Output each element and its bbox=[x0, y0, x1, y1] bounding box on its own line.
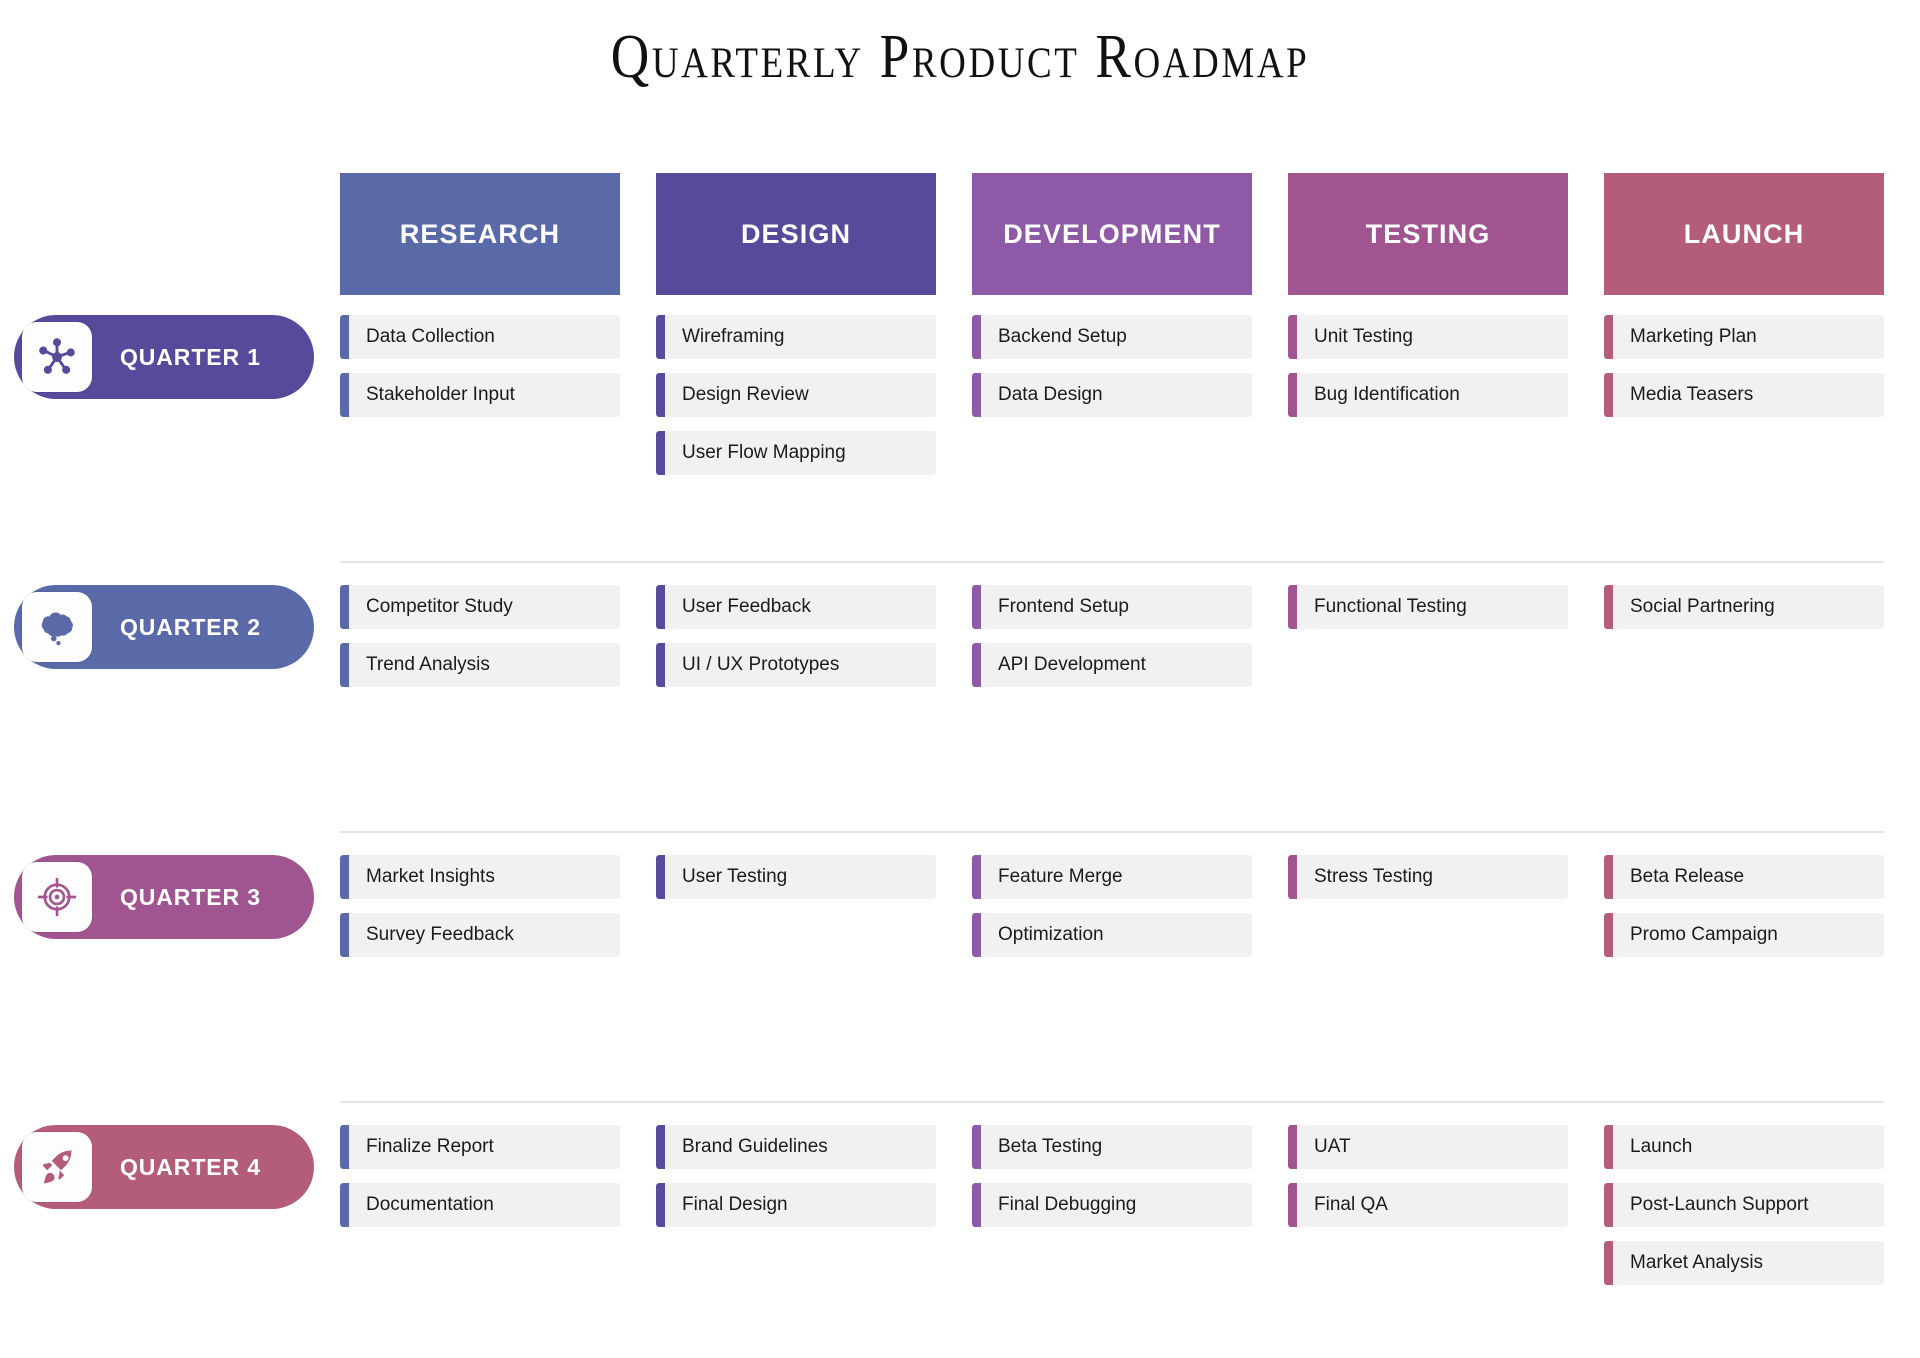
task-item[interactable]: UAT bbox=[1288, 1125, 1568, 1169]
task-label: Promo Campaign bbox=[1613, 913, 1778, 957]
task-column-testing: Stress Testing bbox=[1288, 855, 1604, 971]
task-column-research: Competitor StudyTrend Analysis bbox=[340, 585, 656, 701]
task-label: Unit Testing bbox=[1297, 315, 1413, 359]
task-accent-bar bbox=[340, 643, 349, 687]
task-accent-bar bbox=[656, 585, 665, 629]
task-column-testing: Unit TestingBug Identification bbox=[1288, 315, 1604, 489]
task-accent-bar bbox=[340, 855, 349, 899]
task-column-launch: Beta ReleasePromo Campaign bbox=[1604, 855, 1920, 971]
task-item[interactable]: Wireframing bbox=[656, 315, 936, 359]
task-item[interactable]: Post-Launch Support bbox=[1604, 1183, 1884, 1227]
row-spacer bbox=[0, 1103, 1920, 1125]
task-item[interactable]: Finalize Report bbox=[340, 1125, 620, 1169]
task-label: Survey Feedback bbox=[349, 913, 514, 957]
column-header-cell: LAUNCH bbox=[1604, 173, 1920, 295]
quarter-badge-cell: QUARTER 4 bbox=[0, 1125, 340, 1299]
task-item[interactable]: Market Insights bbox=[340, 855, 620, 899]
target-crosshair-icon bbox=[22, 862, 92, 932]
quarter-block: QUARTER 4Finalize ReportDocumentationBra… bbox=[0, 1125, 1920, 1353]
quarter-block: QUARTER 3Market InsightsSurvey FeedbackU… bbox=[0, 855, 1920, 1083]
quarter-row: QUARTER 2Competitor StudyTrend AnalysisU… bbox=[0, 585, 1920, 701]
task-accent-bar bbox=[972, 913, 981, 957]
task-label: User Flow Mapping bbox=[665, 431, 846, 475]
quarter-block: QUARTER 2Competitor StudyTrend AnalysisU… bbox=[0, 585, 1920, 813]
column-header-row: RESEARCH DESIGN DEVELOPMENT TESTING LAUN… bbox=[0, 173, 1920, 295]
row-spacer bbox=[0, 543, 1920, 561]
quarter-badge-cell: QUARTER 3 bbox=[0, 855, 340, 971]
column-header-cell: TESTING bbox=[1288, 173, 1604, 295]
network-nodes-icon bbox=[22, 322, 92, 392]
task-accent-bar bbox=[656, 315, 665, 359]
quarter-badge-4[interactable]: QUARTER 4 bbox=[14, 1125, 314, 1209]
task-item[interactable]: Survey Feedback bbox=[340, 913, 620, 957]
quarter-rows-container: QUARTER 1Data CollectionStakeholder Inpu… bbox=[0, 315, 1920, 1353]
task-item[interactable]: Unit Testing bbox=[1288, 315, 1568, 359]
task-item[interactable]: Beta Release bbox=[1604, 855, 1884, 899]
task-label: Marketing Plan bbox=[1613, 315, 1757, 359]
task-accent-bar bbox=[656, 431, 665, 475]
task-accent-bar bbox=[1288, 855, 1297, 899]
task-item[interactable]: Bug Identification bbox=[1288, 373, 1568, 417]
task-accent-bar bbox=[656, 373, 665, 417]
task-accent-bar bbox=[1604, 855, 1613, 899]
task-label: Beta Testing bbox=[981, 1125, 1102, 1169]
task-label: Feature Merge bbox=[981, 855, 1123, 899]
task-item[interactable]: API Development bbox=[972, 643, 1252, 687]
task-column-launch: Social Partnering bbox=[1604, 585, 1920, 701]
column-header-cell: DESIGN bbox=[656, 173, 972, 295]
task-item[interactable]: Documentation bbox=[340, 1183, 620, 1227]
task-item[interactable]: Competitor Study bbox=[340, 585, 620, 629]
task-item[interactable]: Market Analysis bbox=[1604, 1241, 1884, 1285]
task-label: Stress Testing bbox=[1297, 855, 1433, 899]
task-accent-bar bbox=[1604, 373, 1613, 417]
task-item[interactable]: UI / UX Prototypes bbox=[656, 643, 936, 687]
task-accent-bar bbox=[656, 643, 665, 687]
task-label: Documentation bbox=[349, 1183, 494, 1227]
column-header-research[interactable]: RESEARCH bbox=[340, 173, 620, 295]
quarter-badge-1[interactable]: QUARTER 1 bbox=[14, 315, 314, 399]
quarter-label: QUARTER 3 bbox=[120, 884, 261, 911]
task-label: Launch bbox=[1613, 1125, 1692, 1169]
task-item[interactable]: Final Design bbox=[656, 1183, 936, 1227]
task-accent-bar bbox=[1288, 315, 1297, 359]
quarter-row: QUARTER 1Data CollectionStakeholder Inpu… bbox=[0, 315, 1920, 489]
quarter-badge-cell: QUARTER 2 bbox=[0, 585, 340, 701]
task-item[interactable]: Design Review bbox=[656, 373, 936, 417]
task-label: Design Review bbox=[665, 373, 809, 417]
task-accent-bar bbox=[972, 643, 981, 687]
task-item[interactable]: Functional Testing bbox=[1288, 585, 1568, 629]
task-accent-bar bbox=[656, 1183, 665, 1227]
task-accent-bar bbox=[972, 1183, 981, 1227]
quarter-badge-2[interactable]: QUARTER 2 bbox=[14, 585, 314, 669]
task-item[interactable]: Trend Analysis bbox=[340, 643, 620, 687]
task-column-development: Backend SetupData Design bbox=[972, 315, 1288, 489]
quarter-row: QUARTER 4Finalize ReportDocumentationBra… bbox=[0, 1125, 1920, 1299]
task-label: UI / UX Prototypes bbox=[665, 643, 839, 687]
task-column-design: User FeedbackUI / UX Prototypes bbox=[656, 585, 972, 701]
task-column-launch: Marketing PlanMedia Teasers bbox=[1604, 315, 1920, 489]
column-header-development[interactable]: DEVELOPMENT bbox=[972, 173, 1252, 295]
task-item[interactable]: Stress Testing bbox=[1288, 855, 1568, 899]
quarter-label: QUARTER 1 bbox=[120, 344, 261, 371]
task-accent-bar bbox=[1604, 585, 1613, 629]
task-label: UAT bbox=[1297, 1125, 1351, 1169]
task-label: Finalize Report bbox=[349, 1125, 494, 1169]
task-label: API Development bbox=[981, 643, 1146, 687]
task-item[interactable]: Data Collection bbox=[340, 315, 620, 359]
task-accent-bar bbox=[340, 585, 349, 629]
task-item[interactable]: Optimization bbox=[972, 913, 1252, 957]
task-label: Brand Guidelines bbox=[665, 1125, 828, 1169]
page-title: Quarterly Product Roadmap bbox=[134, 0, 1785, 93]
task-accent-bar bbox=[972, 585, 981, 629]
task-accent-bar bbox=[340, 315, 349, 359]
task-column-development: Feature MergeOptimization bbox=[972, 855, 1288, 971]
task-column-research: Market InsightsSurvey Feedback bbox=[340, 855, 656, 971]
task-accent-bar bbox=[1288, 1125, 1297, 1169]
column-header-launch[interactable]: LAUNCH bbox=[1604, 173, 1884, 295]
task-item[interactable]: Promo Campaign bbox=[1604, 913, 1884, 957]
task-item[interactable]: Final QA bbox=[1288, 1183, 1568, 1227]
task-accent-bar bbox=[1604, 913, 1613, 957]
task-item[interactable]: User Testing bbox=[656, 855, 936, 899]
task-accent-bar bbox=[1288, 373, 1297, 417]
column-header-cell: RESEARCH bbox=[340, 173, 656, 295]
row-spacer bbox=[0, 1083, 1920, 1101]
task-accent-bar bbox=[340, 913, 349, 957]
task-item[interactable]: Stakeholder Input bbox=[340, 373, 620, 417]
row-spacer bbox=[0, 563, 1920, 585]
task-column-development: Frontend SetupAPI Development bbox=[972, 585, 1288, 701]
task-accent-bar bbox=[1604, 1241, 1613, 1285]
task-label: Final Design bbox=[665, 1183, 788, 1227]
task-label: Market Analysis bbox=[1613, 1241, 1763, 1285]
quarter-row: QUARTER 3Market InsightsSurvey FeedbackU… bbox=[0, 855, 1920, 971]
task-item[interactable]: Beta Testing bbox=[972, 1125, 1252, 1169]
header-corner-spacer bbox=[0, 173, 340, 295]
task-label: Social Partnering bbox=[1613, 585, 1775, 629]
task-label: User Feedback bbox=[665, 585, 811, 629]
quarter-block: QUARTER 1Data CollectionStakeholder Inpu… bbox=[0, 315, 1920, 543]
task-item[interactable]: Launch bbox=[1604, 1125, 1884, 1169]
task-label: Competitor Study bbox=[349, 585, 513, 629]
task-accent-bar bbox=[340, 1183, 349, 1227]
task-item[interactable]: User Flow Mapping bbox=[656, 431, 936, 475]
task-label: Data Design bbox=[981, 373, 1103, 417]
task-accent-bar bbox=[972, 373, 981, 417]
task-label: Functional Testing bbox=[1297, 585, 1467, 629]
task-column-testing: Functional Testing bbox=[1288, 585, 1604, 701]
task-item[interactable]: Final Debugging bbox=[972, 1183, 1252, 1227]
task-label: Beta Release bbox=[1613, 855, 1744, 899]
task-column-design: WireframingDesign ReviewUser Flow Mappin… bbox=[656, 315, 972, 489]
column-header-testing[interactable]: TESTING bbox=[1288, 173, 1568, 295]
row-spacer bbox=[0, 813, 1920, 831]
task-item[interactable]: Marketing Plan bbox=[1604, 315, 1884, 359]
task-item[interactable]: Brand Guidelines bbox=[656, 1125, 936, 1169]
column-header-cell: DEVELOPMENT bbox=[972, 173, 1288, 295]
task-label: Media Teasers bbox=[1613, 373, 1753, 417]
task-column-launch: LaunchPost-Launch SupportMarket Analysis bbox=[1604, 1125, 1920, 1299]
task-column-design: Brand GuidelinesFinal Design bbox=[656, 1125, 972, 1299]
task-item[interactable]: Backend Setup bbox=[972, 315, 1252, 359]
task-item[interactable]: Feature Merge bbox=[972, 855, 1252, 899]
task-item[interactable]: Media Teasers bbox=[1604, 373, 1884, 417]
task-label: Stakeholder Input bbox=[349, 373, 515, 417]
task-item[interactable]: Social Partnering bbox=[1604, 585, 1884, 629]
task-accent-bar bbox=[656, 1125, 665, 1169]
task-column-research: Finalize ReportDocumentation bbox=[340, 1125, 656, 1299]
quarter-badge-cell: QUARTER 1 bbox=[0, 315, 340, 489]
task-column-testing: UATFinal QA bbox=[1288, 1125, 1604, 1299]
task-accent-bar bbox=[656, 855, 665, 899]
task-accent-bar bbox=[1288, 585, 1297, 629]
task-label: Final Debugging bbox=[981, 1183, 1136, 1227]
column-header-design[interactable]: DESIGN bbox=[656, 173, 936, 295]
task-accent-bar bbox=[1604, 1183, 1613, 1227]
task-item[interactable]: Frontend Setup bbox=[972, 585, 1252, 629]
task-accent-bar bbox=[972, 855, 981, 899]
task-label: Frontend Setup bbox=[981, 585, 1129, 629]
task-label: Final QA bbox=[1297, 1183, 1388, 1227]
task-label: User Testing bbox=[665, 855, 787, 899]
roadmap-board: RESEARCH DESIGN DEVELOPMENT TESTING LAUN… bbox=[0, 173, 1920, 1353]
task-accent-bar bbox=[1288, 1183, 1297, 1227]
quarter-label: QUARTER 4 bbox=[120, 1154, 261, 1181]
task-label: Data Collection bbox=[349, 315, 495, 359]
task-column-research: Data CollectionStakeholder Input bbox=[340, 315, 656, 489]
task-item[interactable]: Data Design bbox=[972, 373, 1252, 417]
task-item[interactable]: User Feedback bbox=[656, 585, 936, 629]
task-label: Market Insights bbox=[349, 855, 495, 899]
thought-bubble-icon bbox=[22, 592, 92, 662]
quarter-badge-3[interactable]: QUARTER 3 bbox=[14, 855, 314, 939]
task-label: Trend Analysis bbox=[349, 643, 490, 687]
task-accent-bar bbox=[1604, 1125, 1613, 1169]
task-accent-bar bbox=[1604, 315, 1613, 359]
task-accent-bar bbox=[972, 1125, 981, 1169]
task-column-development: Beta TestingFinal Debugging bbox=[972, 1125, 1288, 1299]
task-accent-bar bbox=[340, 1125, 349, 1169]
task-column-design: User Testing bbox=[656, 855, 972, 971]
task-label: Wireframing bbox=[665, 315, 784, 359]
task-label: Post-Launch Support bbox=[1613, 1183, 1809, 1227]
task-label: Backend Setup bbox=[981, 315, 1127, 359]
rocket-icon bbox=[22, 1132, 92, 1202]
quarter-label: QUARTER 2 bbox=[120, 614, 261, 641]
row-spacer bbox=[0, 833, 1920, 855]
task-label: Bug Identification bbox=[1297, 373, 1460, 417]
task-label: Optimization bbox=[981, 913, 1104, 957]
task-accent-bar bbox=[340, 373, 349, 417]
task-accent-bar bbox=[972, 315, 981, 359]
